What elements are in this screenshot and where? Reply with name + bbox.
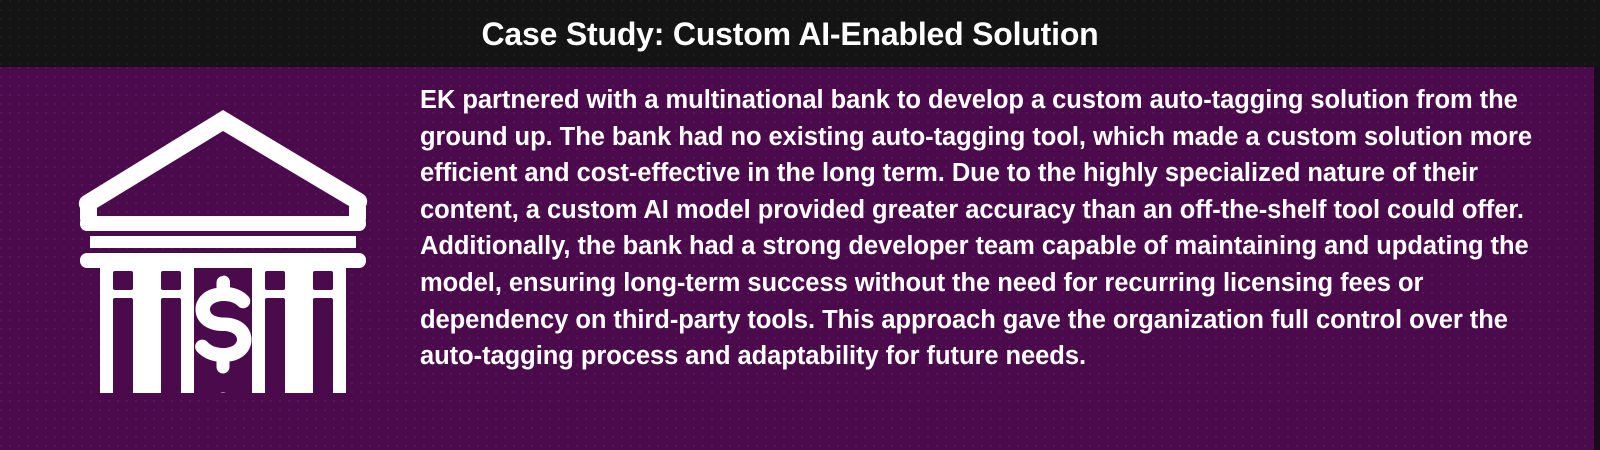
page-title: Case Study: Custom AI-Enabled Solution: [481, 18, 1118, 50]
case-study-paragraph: EK partnered with a multinational bank t…: [420, 82, 1550, 375]
right-edge-strip: [1594, 67, 1600, 450]
case-study-card: Case Study: Custom AI-Enabled Solution: [0, 0, 1600, 450]
bank-dollar-icon: [78, 108, 368, 393]
header-band: Case Study: Custom AI-Enabled Solution: [0, 0, 1600, 67]
